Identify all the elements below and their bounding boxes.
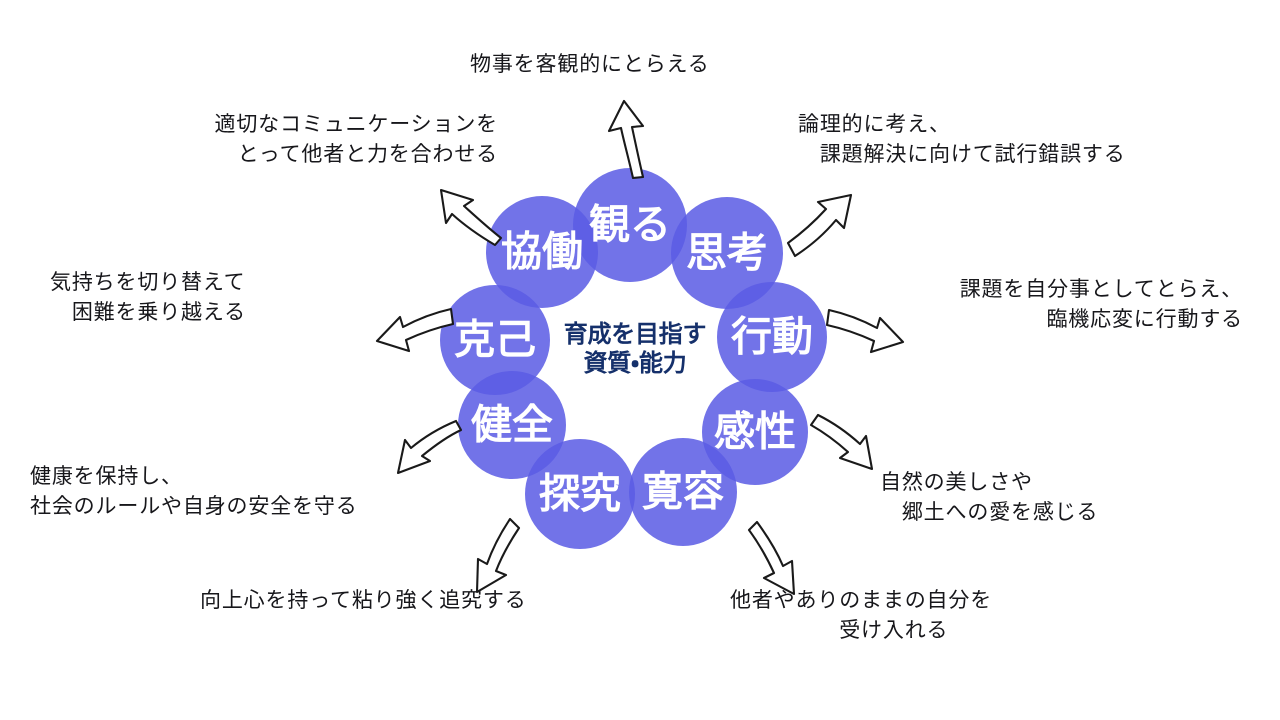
petal-label-koudou: 行動 <box>731 317 813 358</box>
petal-label-miru: 観る <box>589 205 671 246</box>
petal-label-kansei: 感性 <box>714 412 796 453</box>
caption-nature: 自然の美しさや 郷土への愛を感じる <box>880 468 1260 528</box>
caption-logical: 論理的に考え、 課題解決に向けて試行錯誤する <box>798 110 1248 170</box>
petal-label-shikou: 思考 <box>686 233 768 274</box>
petal-label-kanyou: 寛容 <box>642 472 724 513</box>
caption-objective: 物事を客観的にとらえる <box>470 50 710 80</box>
petal-label-kenzen: 健全 <box>471 405 553 446</box>
diagram-canvas: 物事を客観的にとらえる 適切なコミュニケーションを とって他者と力を合わせる 論… <box>0 0 1280 720</box>
center-label: 育成を目指す 資質・能力 <box>545 320 725 379</box>
caption-communication: 適切なコミュニケーションを とって他者と力を合わせる <box>128 110 498 170</box>
caption-health: 健康を保持し、 社会のルールや自身の安全を守る <box>30 462 450 522</box>
caption-ownership: 課題を自分事としてとらえ、 臨機応変に行動する <box>848 275 1243 335</box>
caption-resilience: 気持ちを切り替えて 困難を乗り越える <box>50 268 360 328</box>
caption-acceptance: 他者やありのままの自分を 受け入れる <box>730 586 1130 646</box>
petal-label-kokki: 克己 <box>454 320 536 361</box>
petal-label-tankyuu: 探究 <box>539 474 621 515</box>
petal-label-kyoudou: 協働 <box>501 232 583 273</box>
